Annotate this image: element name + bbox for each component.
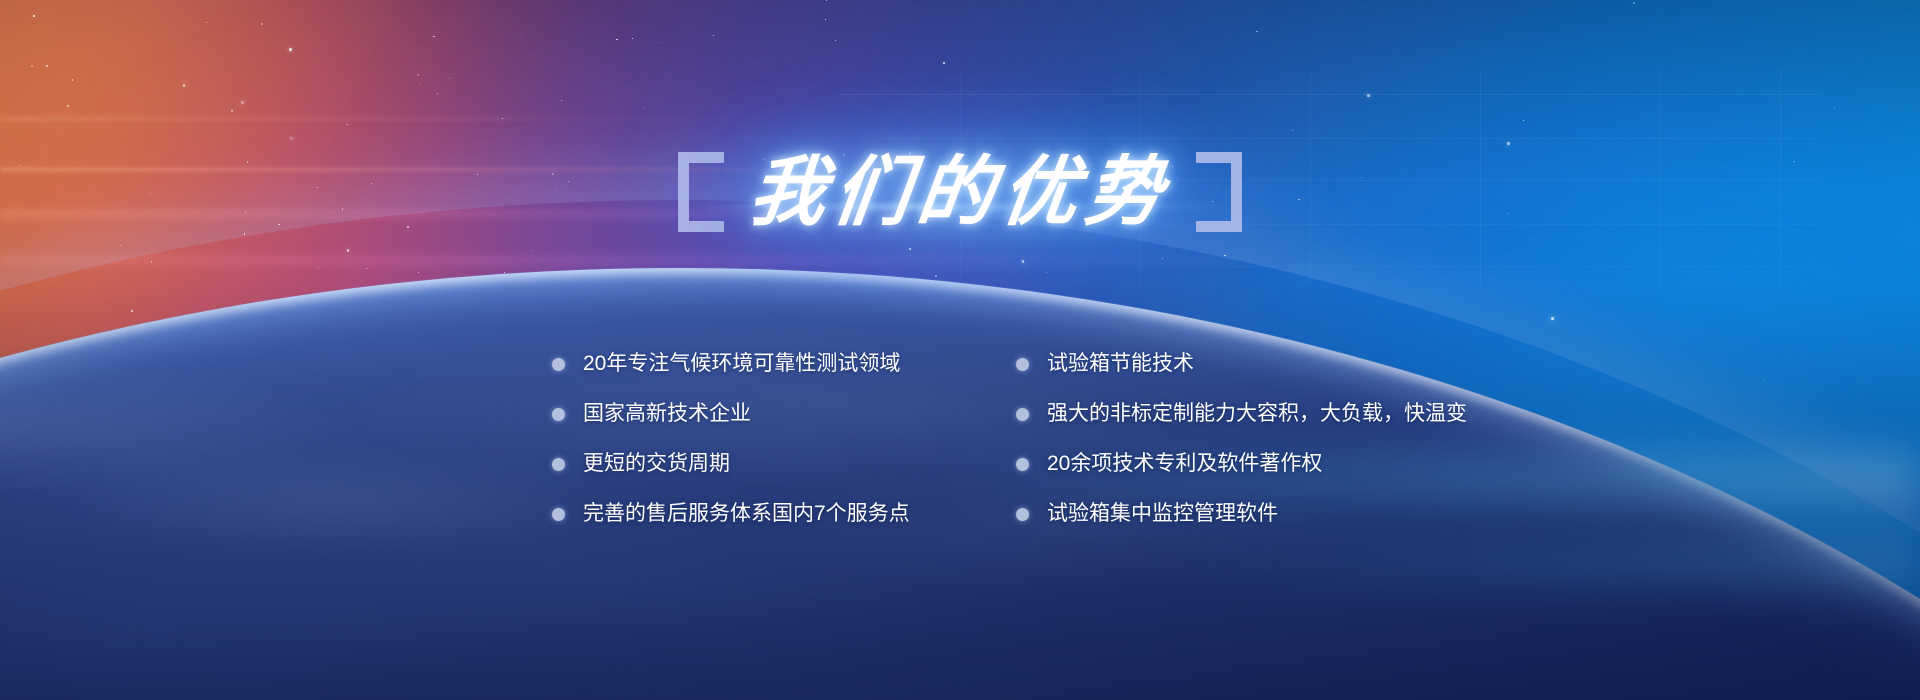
bullet-dot-icon (552, 408, 565, 421)
bullet-dot-icon (552, 458, 565, 471)
advantages-column-left: 20年专注气候环境可靠性测试领域 国家高新技术企业 更短的交货周期 完善的售后服… (552, 352, 1002, 526)
bullet-dot-icon (552, 508, 565, 521)
advantages-column-right: 试验箱节能技术 强大的非标定制能力大容积，大负载，快温变 20余项技术专利及软件… (1016, 352, 1576, 526)
bullet-dot-icon (1016, 508, 1029, 521)
list-item-label: 试验箱集中监控管理软件 (1047, 502, 1278, 526)
light-streak-1 (0, 118, 760, 120)
banner-title-block: 我们的优势 (0, 134, 1920, 250)
list-item: 强大的非标定制能力大容积，大负载，快温变 (1016, 402, 1576, 426)
advantages-banner: 我们的优势 20年专注气候环境可靠性测试领域 国家高新技术企业 更短的交货周期 … (0, 0, 1920, 700)
list-item-label: 更短的交货周期 (583, 452, 730, 476)
list-item: 20年专注气候环境可靠性测试领域 (552, 352, 1002, 376)
list-item: 试验箱集中监控管理软件 (1016, 502, 1576, 526)
bullet-dot-icon (1016, 358, 1029, 371)
bullet-dot-icon (552, 358, 565, 371)
list-item-label: 国家高新技术企业 (583, 402, 751, 426)
list-item: 完善的售后服务体系国内7个服务点 (552, 502, 1002, 526)
bullet-dot-icon (1016, 408, 1029, 421)
list-item: 20余项技术专利及软件著作权 (1016, 452, 1576, 476)
horizon-glow-band-lower (1160, 538, 1920, 584)
list-item-label: 强大的非标定制能力大容积，大负载，快温变 (1047, 402, 1467, 426)
list-item-label: 20余项技术专利及软件著作权 (1047, 452, 1322, 476)
list-item-label: 20年专注气候环境可靠性测试领域 (583, 352, 900, 376)
list-item: 国家高新技术企业 (552, 402, 1002, 426)
page-title: 我们的优势 (745, 154, 1174, 230)
bullet-dot-icon (1016, 458, 1029, 471)
list-item: 更短的交货周期 (552, 452, 1002, 476)
list-item: 试验箱节能技术 (1016, 352, 1576, 376)
bracket-left-icon (678, 152, 724, 232)
list-item-label: 完善的售后服务体系国内7个服务点 (583, 502, 910, 526)
list-item-label: 试验箱节能技术 (1047, 352, 1194, 376)
bracket-right-icon (1196, 152, 1242, 232)
advantages-list: 20年专注气候环境可靠性测试领域 国家高新技术企业 更短的交货周期 完善的售后服… (552, 352, 1612, 526)
